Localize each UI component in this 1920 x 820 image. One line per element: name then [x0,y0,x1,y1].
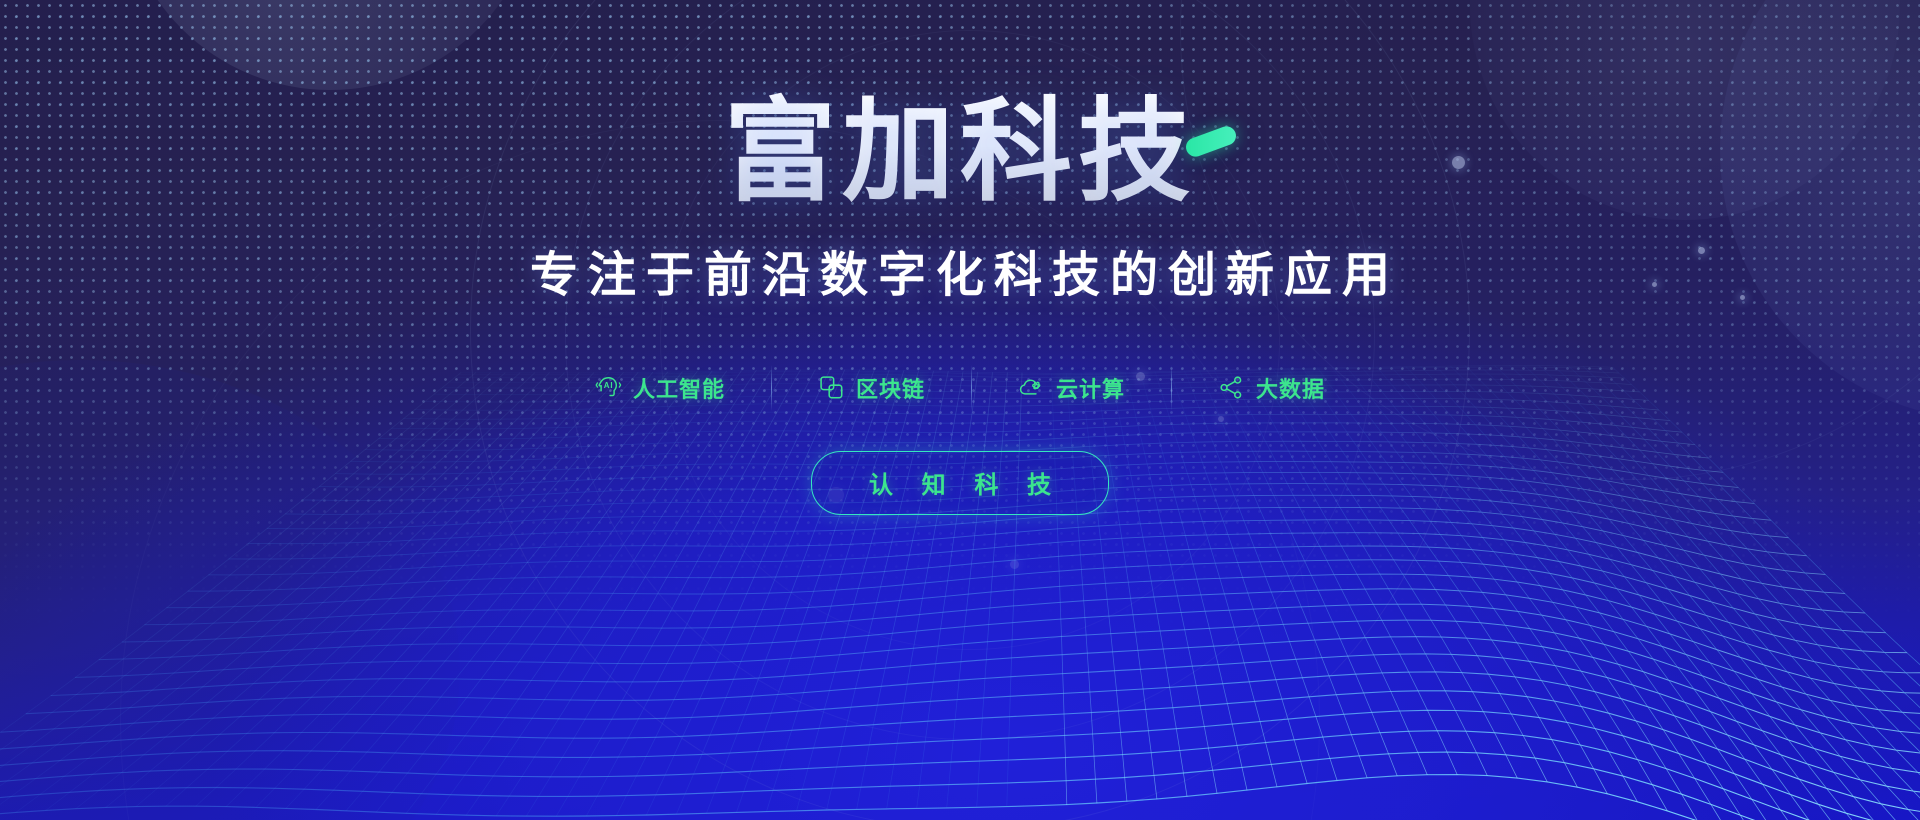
svg-text:AI: AI [604,382,614,391]
hero-subtitle: 专注于前沿数字化科技的创新应用 [0,235,1920,305]
glow-dot [1010,560,1019,569]
feature-tag-cloud-label: 云计算 [1056,372,1125,404]
ai-head-icon: AI [595,374,622,401]
cloud-gear-icon [1018,374,1045,401]
brand-title-text: 富加科技 [724,89,1196,214]
feature-tag-ai[interactable]: AI 人工智能 [549,372,771,404]
hero-banner: 富加科技 专注于前沿数字化科技的创新应用 AI 人工智能 [0,0,1920,820]
feature-tag-bigdata-label: 大数据 [1256,372,1325,404]
feature-tag-bigdata[interactable]: 大数据 [1172,372,1371,404]
hero-content: 富加科技 专注于前沿数字化科技的创新应用 AI 人工智能 [0,0,1920,515]
blockchain-blocks-icon [818,374,845,401]
feature-tag-blockchain-label: 区块链 [856,372,925,404]
cognitive-tech-button[interactable]: 认 知 科 技 [811,451,1109,515]
cta-wrapper: 认 知 科 技 [0,451,1920,515]
brand-title: 富加科技 [724,92,1196,213]
share-network-icon [1218,374,1245,401]
feature-tag-blockchain[interactable]: 区块链 [772,372,971,404]
feature-tag-row: AI 人工智能 区块链 [0,365,1920,411]
feature-tag-ai-label: 人工智能 [633,372,725,404]
feature-tag-cloud[interactable]: 云计算 [972,372,1171,404]
